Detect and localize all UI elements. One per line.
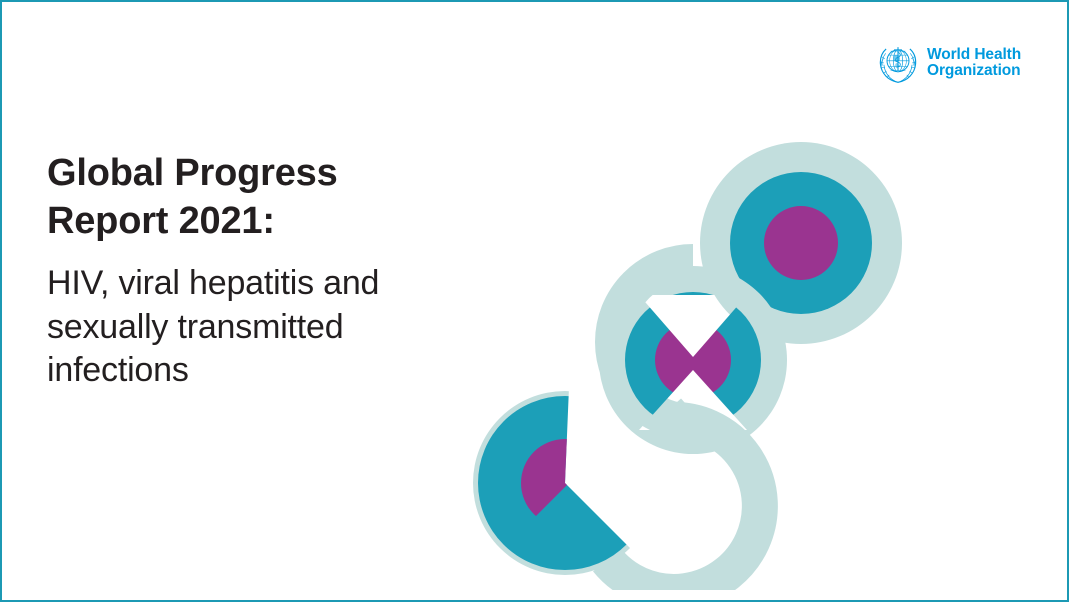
page-title: Global Progress Report 2021:: [47, 150, 477, 246]
page-title-line1: Global Progress: [47, 152, 338, 194]
page-subtitle-line1: HIV, viral hepatitis and: [47, 264, 379, 302]
who-wordmark-line1: World Health: [927, 47, 1021, 63]
page-subtitle: HIV, viral hepatitis and sexually transm…: [47, 262, 477, 394]
page-subtitle-line2: sexually transmitted: [47, 308, 343, 346]
who-logo: World Health Organization: [876, 38, 1026, 88]
cover-graphic: [472, 120, 902, 590]
cover-page: World Health Organization Global Progres…: [0, 0, 1069, 602]
page-title-line2: Report 2021:: [47, 200, 275, 242]
page-subtitle-line3: infections: [47, 351, 189, 389]
title-block: Global Progress Report 2021: HIV, viral …: [47, 150, 477, 393]
who-wordmark: World Health Organization: [927, 47, 1021, 80]
who-emblem-icon: [876, 41, 920, 85]
bottom-motif: [473, 391, 657, 575]
who-wordmark-line2: Organization: [927, 63, 1021, 79]
